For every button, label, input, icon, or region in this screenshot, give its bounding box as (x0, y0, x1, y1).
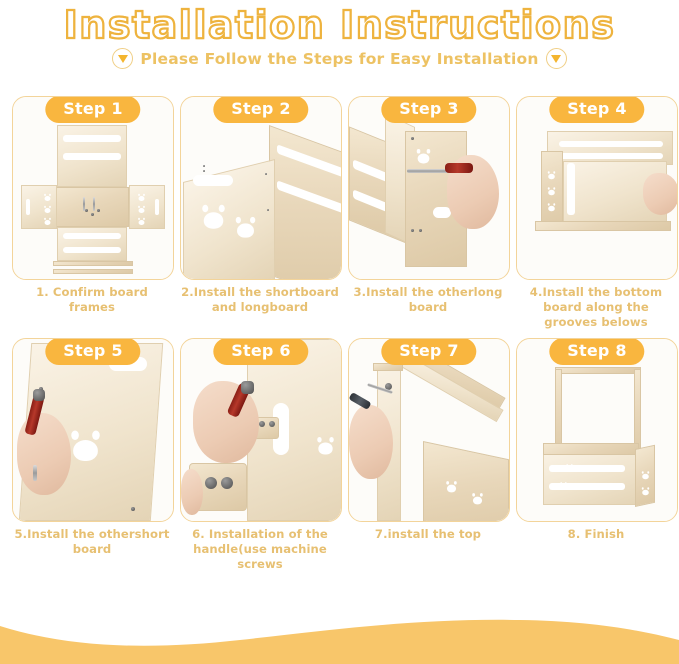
step-cell-5: Step 5 5.Install the othershort board (12, 338, 172, 572)
steps-grid: Step 1 1. Confirm board frames (12, 96, 676, 572)
step-card-5: Step 5 (12, 338, 174, 522)
step-photo-4 (517, 97, 677, 279)
step-cell-2: Step 2 2.Install the shortboard and long… (180, 96, 340, 330)
down-arrow-circle-icon-left (112, 48, 133, 69)
down-arrow-circle-icon-right (546, 48, 567, 69)
step-card-1: Step 1 (12, 96, 174, 280)
step-caption-5: 5.Install the othershort board (12, 527, 172, 557)
steps-row-2: Step 5 5.Install the othershort board (12, 338, 676, 572)
step-badge-3: Step 3 (381, 96, 476, 123)
page-subtitle: Please Follow the Steps for Easy Install… (140, 50, 538, 68)
step-card-6: Step 6 (180, 338, 342, 522)
step-photo-1 (13, 97, 173, 279)
step-card-8: Step 8 (516, 338, 678, 522)
step-caption-2: 2.Install the shortboard and longboard (180, 285, 340, 315)
step-photo-3 (349, 97, 509, 279)
step-cell-8: Step 8 8. Finish (516, 338, 676, 572)
step-badge-4: Step 4 (549, 96, 644, 123)
step-caption-6: 6. Installation of the handle(use machin… (180, 527, 340, 572)
step-badge-5: Step 5 (45, 338, 140, 365)
step-photo-5 (13, 339, 173, 521)
step-cell-4: Step 4 4.Install the bottom board along … (516, 96, 676, 330)
step-caption-1: 1. Confirm board frames (12, 285, 172, 315)
step-badge-8: Step 8 (549, 338, 644, 365)
step-cell-7: Step 7 7.install the top (348, 338, 508, 572)
step-card-7: Step 7 (348, 338, 510, 522)
subtitle-row: Please Follow the Steps for Easy Install… (0, 48, 679, 69)
bottom-wave-decoration (0, 584, 679, 664)
step-badge-2: Step 2 (213, 96, 308, 123)
step-card-2: Step 2 (180, 96, 342, 280)
step-photo-8 (517, 339, 677, 521)
step-photo-2 (181, 97, 341, 279)
step-caption-3: 3.Install the otherlong board (348, 285, 508, 315)
page-title: Installation Instructions (0, 2, 679, 48)
step-badge-1: Step 1 (45, 96, 140, 123)
step-cell-1: Step 1 1. Confirm board frames (12, 96, 172, 330)
installation-instructions-page: Installation Instructions Please Follow … (0, 0, 679, 664)
step-badge-7: Step 7 (381, 338, 476, 365)
step-card-4: Step 4 (516, 96, 678, 280)
step-photo-7 (349, 339, 509, 521)
step-badge-6: Step 6 (213, 338, 308, 365)
step-card-3: Step 3 (348, 96, 510, 280)
step-caption-7: 7.install the top (348, 527, 508, 542)
step-photo-6 (181, 339, 341, 521)
steps-row-1: Step 1 1. Confirm board frames (12, 96, 676, 330)
triangle-down-icon (118, 55, 128, 63)
step-caption-4: 4.Install the bottom board along the gro… (516, 285, 676, 330)
step-cell-3: Step 3 3.Install the otherlong board (348, 96, 508, 330)
triangle-down-icon (551, 55, 561, 63)
step-cell-6: Step 6 6. Installation of the handle(use… (180, 338, 340, 572)
page-header: Installation Instructions Please Follow … (0, 0, 679, 82)
step-caption-8: 8. Finish (516, 527, 676, 542)
